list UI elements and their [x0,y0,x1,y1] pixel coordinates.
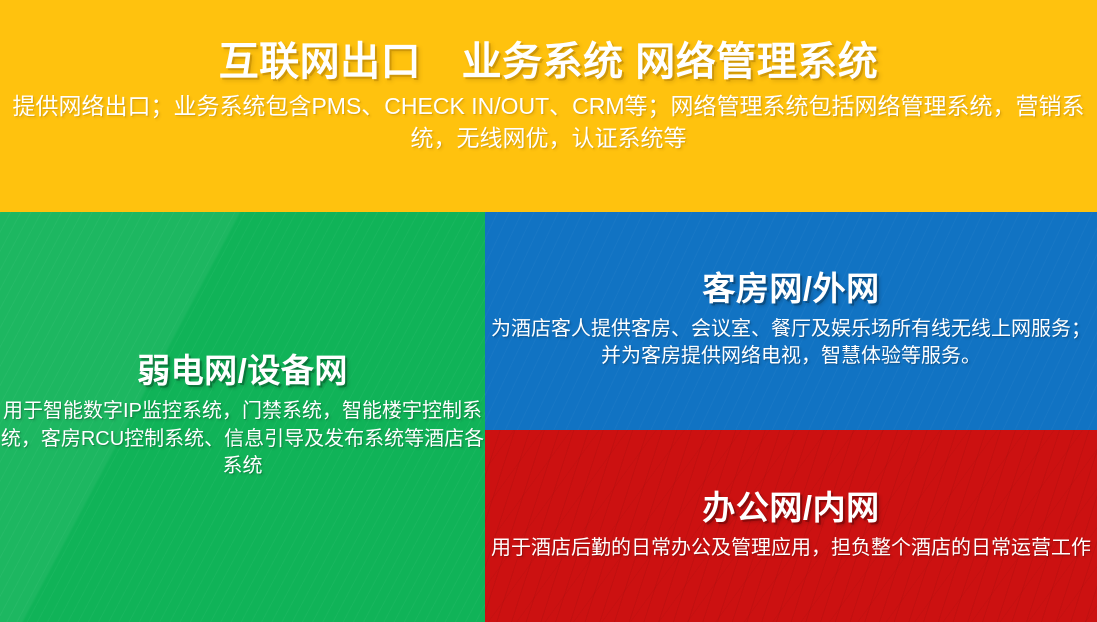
panel-office-network-content: 办公网/内网 用于酒店后勤的日常办公及管理应用，担负整个酒店的日常运营工作 [485,490,1097,563]
panel-guest-room-network-title: 客房网/外网 [485,271,1097,308]
network-architecture-slide: 互联网出口 业务系统 网络管理系统 提供网络出口；业务系统包含PMS、CHECK… [0,0,1097,622]
panel-weak-current-network-title: 弱电网/设备网 [0,353,485,390]
panel-office-network-description: 用于酒店后勤的日常办公及管理应用，担负整个酒店的日常运营工作 [485,527,1097,563]
panel-internet-exit-title: 互联网出口 业务系统 网络管理系统 [0,40,1097,85]
panel-weak-current-network-description: 用于智能数字IP监控系统，门禁系统，智能楼宇控制系统，客房RCU控制系统、信息引… [0,390,485,481]
panel-internet-exit-content: 互联网出口 业务系统 网络管理系统 提供网络出口；业务系统包含PMS、CHECK… [0,0,1097,154]
panel-weak-current-network-content: 弱电网/设备网 用于智能数字IP监控系统，门禁系统，智能楼宇控制系统，客房RCU… [0,353,485,481]
panel-office-network-title: 办公网/内网 [485,490,1097,527]
panel-guest-room-network-description: 为酒店客人提供客房、会议室、餐厅及娱乐场所有线无线上网服务；并为客房提供网络电视… [485,308,1097,371]
panel-weak-current-network: 弱电网/设备网 用于智能数字IP监控系统，门禁系统，智能楼宇控制系统，客房RCU… [0,212,485,622]
panel-internet-exit-description: 提供网络出口；业务系统包含PMS、CHECK IN/OUT、CRM等；网络管理系… [0,85,1097,154]
panel-guest-room-network-content: 客房网/外网 为酒店客人提供客房、会议室、餐厅及娱乐场所有线无线上网服务；并为客… [485,271,1097,371]
panel-office-network: 办公网/内网 用于酒店后勤的日常办公及管理应用，担负整个酒店的日常运营工作 [485,430,1097,622]
panel-internet-exit: 互联网出口 业务系统 网络管理系统 提供网络出口；业务系统包含PMS、CHECK… [0,0,1097,212]
panel-guest-room-network: 客房网/外网 为酒店客人提供客房、会议室、餐厅及娱乐场所有线无线上网服务；并为客… [485,212,1097,430]
